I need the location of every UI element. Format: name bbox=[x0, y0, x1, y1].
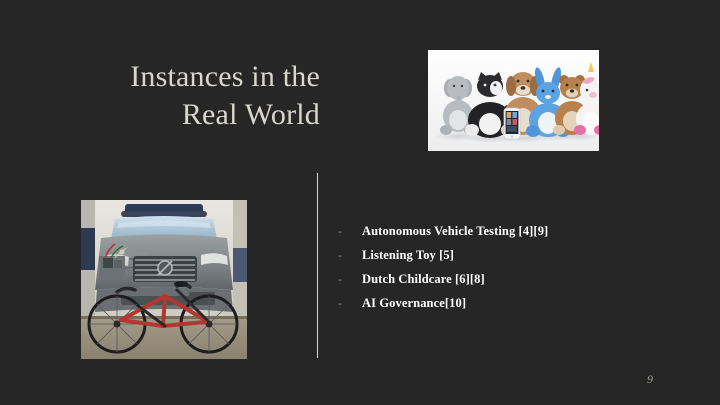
crashed-vehicle-illustration bbox=[81, 200, 247, 359]
bullet-dash-icon: - bbox=[338, 291, 362, 315]
list-item-label: AI Governance[10] bbox=[362, 291, 466, 315]
list-item-label: Autonomous Vehicle Testing [4][9] bbox=[362, 219, 548, 243]
bullet-dash-icon: - bbox=[338, 243, 362, 267]
list-item-label: Listening Toy [5] bbox=[362, 243, 454, 267]
presentation-slide: Instances in the Real World bbox=[0, 0, 720, 405]
list-item-label: Dutch Childcare [6][8] bbox=[362, 267, 485, 291]
list-item: - Autonomous Vehicle Testing [4][9] bbox=[338, 219, 668, 243]
plush-toys-illustration bbox=[428, 50, 599, 151]
vertical-divider bbox=[317, 173, 318, 358]
plush-toys-photo bbox=[428, 50, 599, 151]
crashed-vehicle-photo bbox=[81, 200, 247, 359]
page-number: 9 bbox=[620, 372, 680, 387]
bullet-dash-icon: - bbox=[338, 219, 362, 243]
bullet-list: - Autonomous Vehicle Testing [4][9] - Li… bbox=[338, 219, 668, 315]
list-item: - AI Governance[10] bbox=[338, 291, 668, 315]
bullet-dash-icon: - bbox=[338, 267, 362, 291]
page-title: Instances in the Real World bbox=[60, 58, 320, 134]
list-item: - Dutch Childcare [6][8] bbox=[338, 267, 668, 291]
list-item: - Listening Toy [5] bbox=[338, 243, 668, 267]
